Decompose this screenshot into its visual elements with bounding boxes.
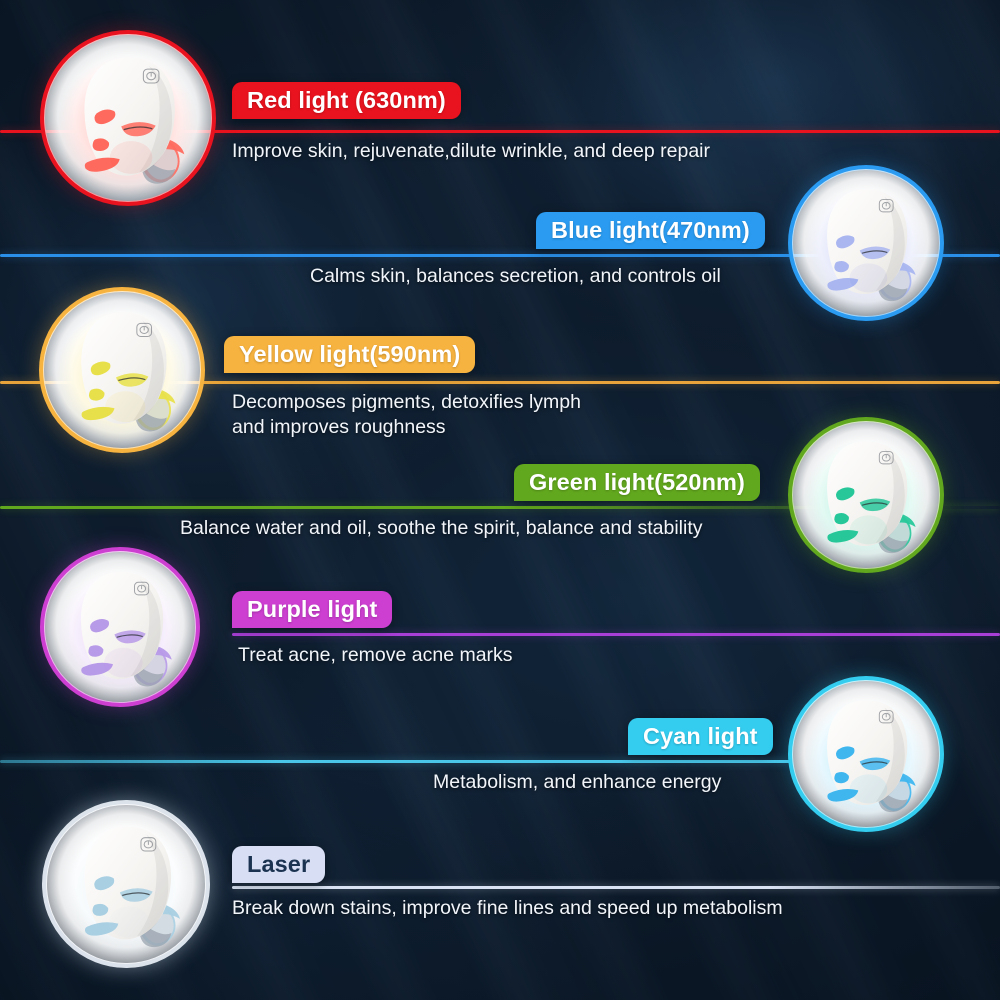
light-mode-description-laser: Break down stains, improve fine lines an… [232, 896, 783, 921]
led-face-mask-icon [45, 294, 199, 448]
mask-photo-red [40, 30, 216, 206]
light-mode-badge-yellow[interactable]: Yellow light(590nm) [224, 336, 475, 373]
divider-line-laser [232, 886, 1000, 889]
mask-photo-purple [40, 547, 200, 707]
mask-illustration-blue [793, 172, 938, 317]
light-mode-badge-red[interactable]: Red light (630nm) [232, 82, 461, 119]
divider-line-cyan [0, 760, 790, 763]
light-mode-description-yellow: Decomposes pigments, detoxifies lymph an… [232, 390, 581, 440]
mask-illustration-green [793, 424, 938, 569]
light-mode-description-blue: Calms skin, balances secretion, and cont… [310, 264, 721, 289]
light-mode-badge-blue[interactable]: Blue light(470nm) [536, 212, 765, 249]
led-face-mask-icon [48, 808, 204, 964]
mask-photo-yellow [39, 287, 205, 453]
led-face-mask-icon [46, 554, 195, 703]
mask-illustration-red [46, 38, 210, 202]
led-face-mask-icon [793, 683, 938, 828]
light-mode-description-purple: Treat acne, remove acne marks [238, 643, 513, 668]
led-face-mask-icon [793, 172, 938, 317]
led-face-mask-icon [46, 38, 210, 202]
mask-photo-green [788, 417, 944, 573]
light-mode-description-cyan: Metabolism, and enhance energy [433, 770, 721, 795]
light-mode-badge-laser[interactable]: Laser [232, 846, 325, 883]
light-mode-badge-purple[interactable]: Purple light [232, 591, 392, 628]
light-mode-description-red: Improve skin, rejuvenate,dilute wrinkle,… [232, 139, 710, 164]
led-face-mask-icon [793, 424, 938, 569]
mask-illustration-laser [48, 808, 204, 964]
mask-photo-cyan [788, 676, 944, 832]
infographic-page: Red light (630nm)Improve skin, rejuvenat… [0, 0, 1000, 1000]
light-mode-badge-cyan[interactable]: Cyan light [628, 718, 773, 755]
light-mode-description-green: Balance water and oil, soothe the spirit… [180, 516, 702, 541]
mask-photo-laser [42, 800, 210, 968]
mask-illustration-yellow [45, 294, 199, 448]
mask-illustration-purple [46, 554, 195, 703]
mask-illustration-cyan [793, 683, 938, 828]
mask-photo-blue [788, 165, 944, 321]
light-mode-badge-green[interactable]: Green light(520nm) [514, 464, 760, 501]
divider-line-purple [232, 633, 1000, 636]
